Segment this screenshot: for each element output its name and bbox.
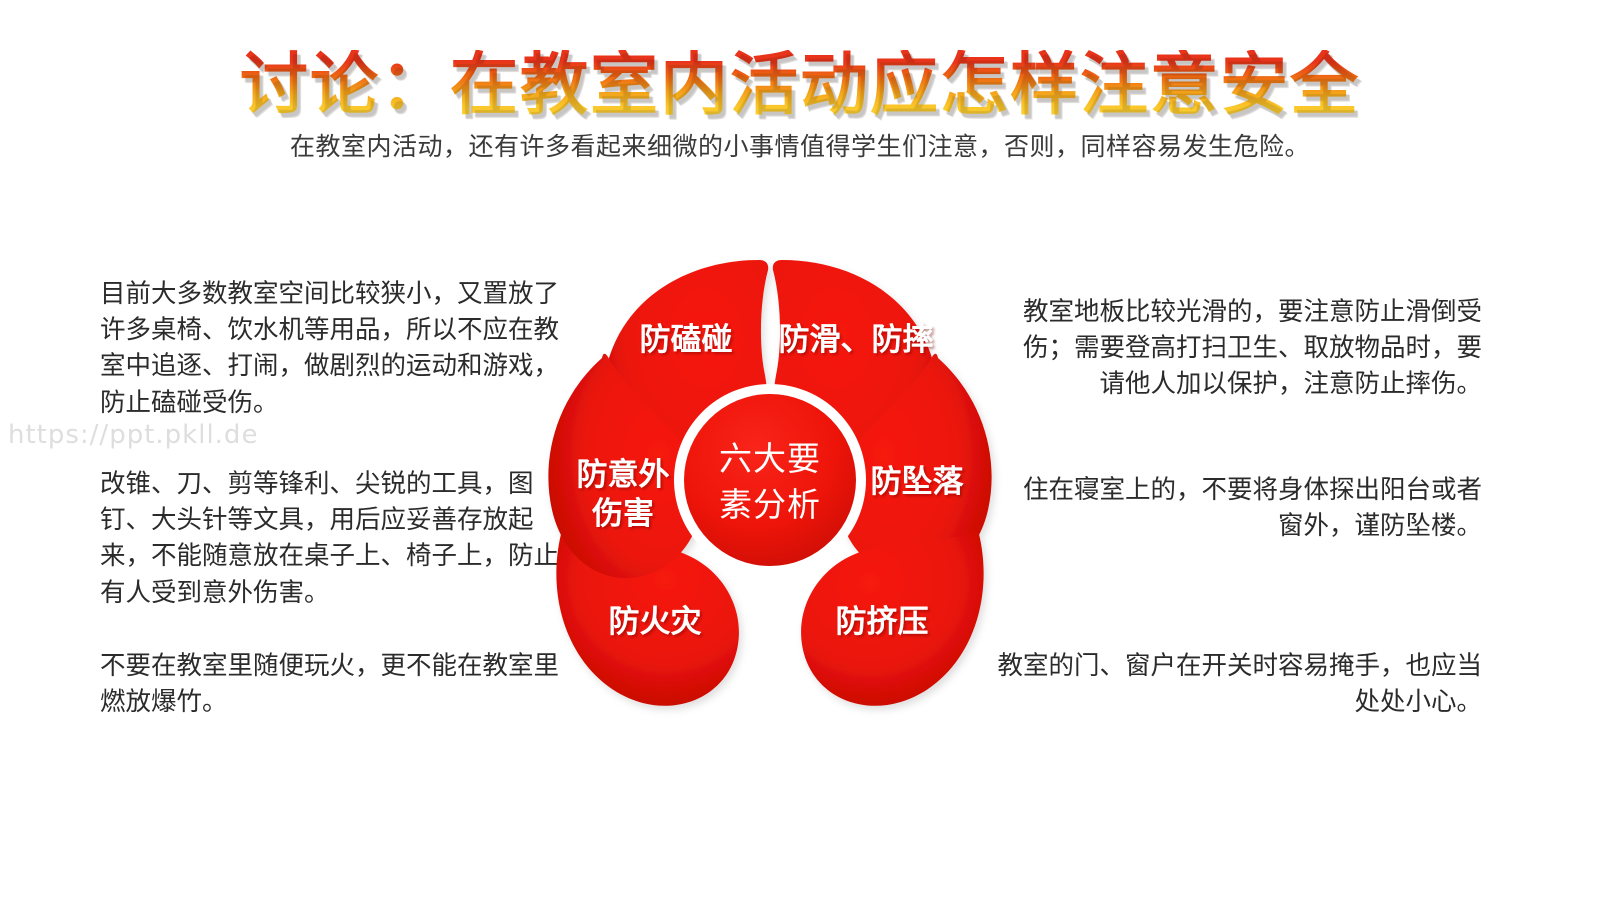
petal-label-bottom-left: 防火灾: [609, 604, 702, 639]
slide-canvas: 讨论：在教室内活动应怎样注意安全 讨论：在教室内活动应怎样注意安全 在教室内活动…: [0, 0, 1600, 900]
note-left-1: 目前大多数教室空间比较狭小，又置放了许多桌椅、饮水机等用品，所以不应在教室中追逐…: [100, 276, 582, 421]
petal-label-bottom-right: 防挤压: [836, 604, 929, 639]
note-left-3: 不要在教室里随便玩火，更不能在教室里燃放爆竹。: [100, 648, 570, 720]
petal-label-top-left: 防磕碰: [640, 322, 733, 357]
note-right-2: 住在寝室上的，不要将身体探出阳台或者窗外，谨防坠楼。: [1022, 472, 1482, 544]
center-label-line2: 素分析: [719, 486, 821, 523]
center-circle[interactable]: [684, 394, 856, 566]
page-title: 讨论：在教室内活动应怎样注意安全: [0, 50, 1600, 121]
watermark-url: https://ppt.pkll.de: [8, 420, 258, 450]
center-label-line1: 六大要: [719, 440, 821, 477]
note-right-3: 教室的门、窗户在开关时容易掩手，也应当处处小心。: [992, 648, 1482, 720]
petal-label-top-right: 防滑、防摔: [779, 322, 934, 357]
note-left-2: 改锥、刀、剪等锋利、尖锐的工具，图钉、大头针等文具，用后应妥善存放起来，不能随意…: [100, 466, 582, 611]
page-subtitle: 在教室内活动，还有许多看起来细微的小事情值得学生们注意，否则，同样容易发生危险。: [0, 127, 1600, 163]
six-element-flower-diagram: 防磕碰 防滑、防摔 防坠落 防挤压 防火灾 防意外 伤害 六大要 素分析: [520, 242, 1020, 722]
petal-label-right: 防坠落: [871, 464, 965, 499]
note-right-1: 教室地板比较光滑的，要注意防止滑倒受伤；需要登高打扫卫生、取放物品时，要请他人加…: [1022, 294, 1482, 403]
petal-label-left-line2: 伤害: [591, 496, 654, 531]
petal-label-left-line1: 防意外: [577, 457, 670, 492]
